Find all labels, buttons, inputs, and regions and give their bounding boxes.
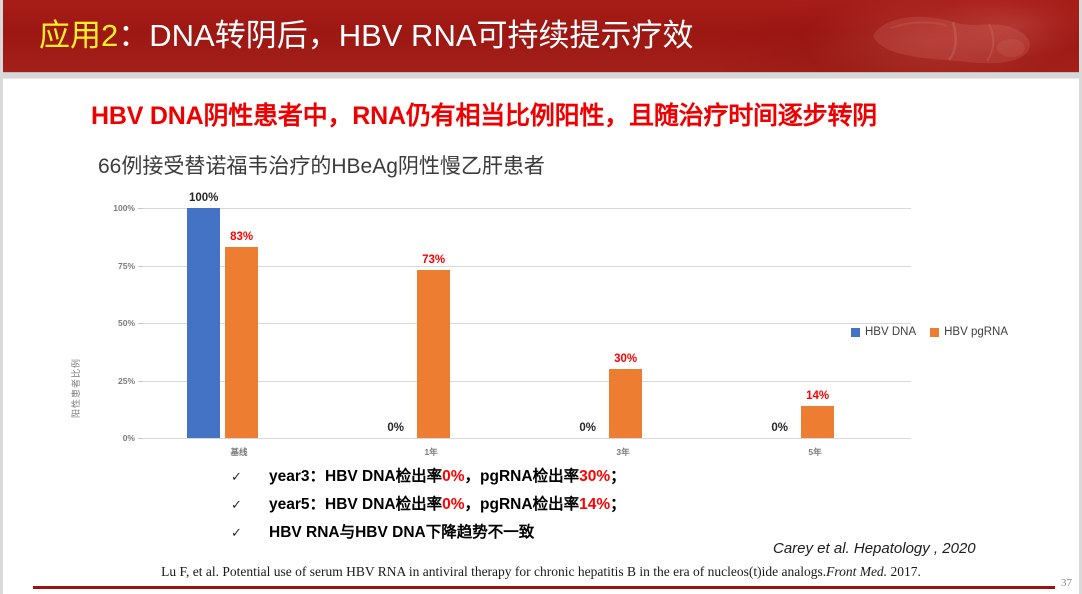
legend-item[interactable]: HBV pgRNA (930, 326, 1008, 338)
chart-bar (417, 270, 450, 438)
footnote-journal: Front Med. (826, 564, 887, 579)
x-axis-tick-label: 5年 (770, 446, 860, 458)
legend-item[interactable]: HBV DNA (851, 326, 916, 338)
y-axis-tick-label: 100% (113, 203, 135, 213)
bullet-list: ✓year3：HBV DNA检出率0%，pgRNA检出率30%；✓year5：H… (231, 464, 791, 548)
chart-category-group: 0%73%1年 (335, 208, 527, 438)
bullet-text-segment: year5：HBV DNA检出率 (269, 496, 442, 513)
legend-swatch-icon (851, 328, 860, 337)
footnote-part2: 2017. (887, 564, 921, 579)
y-axis-tick-label: 50% (118, 318, 135, 328)
bullet-highlight-value: 0% (442, 468, 464, 485)
chart-category-group: 0%14%5年 (719, 208, 911, 438)
bullet-highlight-value: 0% (442, 496, 464, 513)
bullet-text-segment: ，pgRNA检出率 (465, 496, 580, 513)
chart-category-group: 0%30%3年 (527, 208, 719, 438)
legend-swatch-icon (930, 328, 939, 337)
bullet-text-segment: ，pgRNA检出率 (465, 468, 580, 485)
chart-bar (609, 369, 642, 438)
bullet-text: year5：HBV DNA检出率0%，pgRNA检出率14%； (269, 492, 626, 514)
chart-bar-value-label: 100% (174, 192, 234, 204)
bar-chart: 阳性患者比例 100%75%50%25%0%100%83%基线0%73%1年0%… (61, 198, 1021, 453)
bullet-text-segment: year3：HBV DNA检出率 (269, 468, 442, 485)
sub-heading: 66例接受替诺福韦治疗的HBeAg阴性慢乙肝患者 (98, 150, 545, 180)
x-axis-tick-label: 基线 (194, 446, 284, 458)
chart-bar-value-label: 30% (596, 353, 656, 365)
bullet-highlight-value: 30% (579, 468, 610, 485)
red-heading: HBV DNA阴性患者中，RNA仍有相当比例阳性，且随治疗时间逐步转阴 (91, 96, 1031, 132)
slide: 应用2：DNA转阴后，HBV RNA可持续提示疗效 HBV DNA阴性患者中，R… (0, 0, 1082, 594)
page-title: 应用2：DNA转阴后，HBV RNA可持续提示疗效 (39, 12, 694, 60)
chart-bar (225, 247, 258, 438)
bullet-item: ✓year5：HBV DNA检出率0%，pgRNA检出率14%； (231, 492, 791, 520)
chart-category-group: 100%83%基线 (143, 208, 335, 438)
page-number: 37 (1061, 577, 1072, 589)
bullet-text-segment: HBV RNA与HBV DNA下降趋势不一致 (269, 524, 534, 541)
checkmark-icon: ✓ (231, 497, 269, 513)
bullet-text-segment: ； (610, 496, 626, 513)
chart-legend: HBV DNAHBV pgRNA (851, 326, 1008, 338)
y-axis-title: 阳性患者比例 (69, 323, 82, 453)
chart-bar-value-label: 83% (212, 231, 272, 243)
chart-bar-value-label: 73% (404, 254, 464, 266)
page-title-highlight: 应用2 (39, 18, 118, 53)
footnote-part1: Lu F, et al. Potential use of serum HBV … (161, 564, 826, 579)
footnote-reference: Lu F, et al. Potential use of serum HBV … (161, 564, 921, 580)
checkmark-icon: ✓ (231, 525, 269, 541)
legend-label: HBV DNA (865, 326, 916, 338)
bullet-highlight-value: 14% (579, 496, 610, 513)
y-axis-tick-label: 75% (118, 261, 135, 271)
page-title-rest: ：DNA转阴后，HBV RNA可持续提示疗效 (118, 18, 693, 53)
y-axis-tick-label: 25% (118, 376, 135, 386)
source-citation: Carey et al. Hepatology , 2020 (773, 540, 976, 557)
bullet-text: HBV RNA与HBV DNA下降趋势不一致 (269, 520, 534, 542)
chart-bar (801, 406, 834, 438)
bullet-item: ✓year3：HBV DNA检出率0%，pgRNA检出率30%； (231, 464, 791, 492)
legend-label: HBV pgRNA (944, 326, 1008, 338)
bullet-text-segment: ； (610, 468, 626, 485)
bullet-item: ✓HBV RNA与HBV DNA下降趋势不一致 (231, 520, 791, 548)
gridline (143, 438, 911, 439)
x-axis-tick-label: 3年 (578, 446, 668, 458)
chart-bar-value-label: 14% (788, 390, 848, 402)
header-band: 应用2：DNA转阴后，HBV RNA可持续提示疗效 (3, 0, 1082, 72)
liver-illustration-icon (861, 6, 1061, 68)
x-axis-tick-label: 1年 (386, 446, 476, 458)
chart-plot-area: 100%75%50%25%0%100%83%基线0%73%1年0%30%3年0%… (143, 208, 911, 438)
bottom-rule (33, 586, 1055, 589)
y-axis-tick-label: 0% (123, 433, 135, 443)
bullet-text: year3：HBV DNA检出率0%，pgRNA检出率30%； (269, 464, 626, 486)
y-axis-tick-mark (138, 438, 143, 439)
checkmark-icon: ✓ (231, 469, 269, 485)
header-underline (3, 72, 1082, 79)
